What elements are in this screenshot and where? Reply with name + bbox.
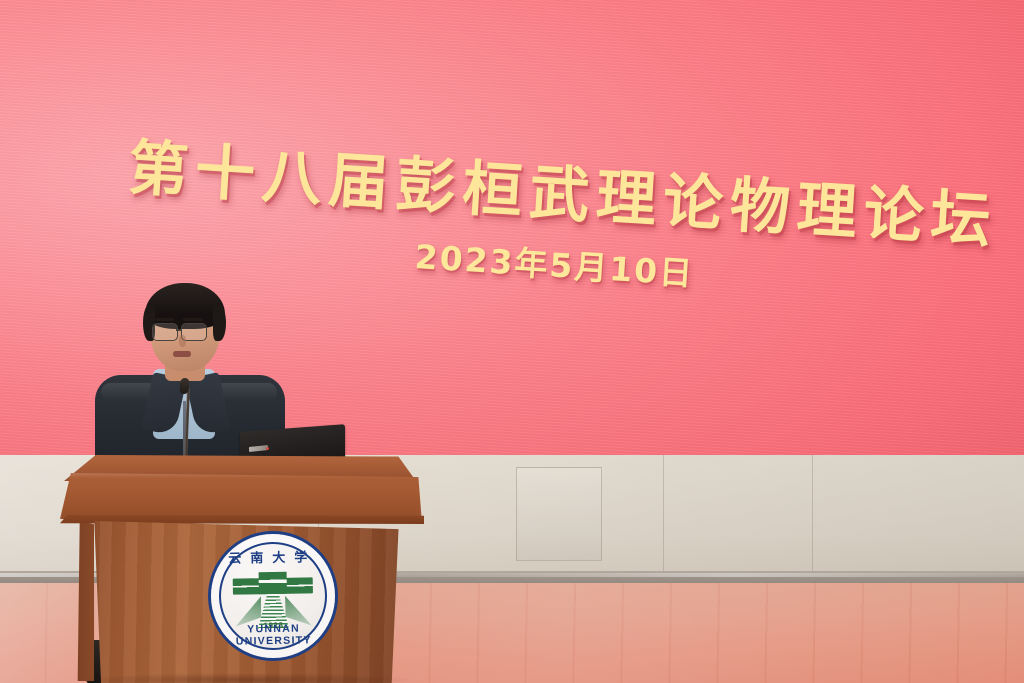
wall-access-panel: [516, 467, 602, 561]
speaker-hair-right: [213, 305, 226, 341]
eyebrow-right: [183, 318, 203, 321]
emblem-english-name: YUNNAN UNIVERSITY: [211, 622, 335, 648]
eyeglasses-bridge: [176, 329, 182, 331]
thinkpad-logo-dot: [266, 447, 269, 450]
emblem-building-center: [259, 572, 287, 594]
eyeglasses-left-lens: [152, 323, 178, 341]
lectern-left-side: [60, 521, 94, 681]
yunnan-university-emblem: 云南大学 1923 YUNNAN UNIVERSITY: [210, 533, 336, 659]
eyebrow-left: [154, 318, 174, 321]
banner-title: 第十八届彭桓武理论物理论坛: [108, 118, 1001, 260]
conference-photo-scene: 第十八届彭桓武理论物理论坛 2023年5月10日: [0, 0, 1024, 683]
banner-date: 2023年5月10日: [404, 229, 696, 295]
wall-panel-seam: [663, 455, 664, 583]
nose: [179, 335, 186, 347]
lectern-floor-shadow: [80, 673, 410, 683]
mouth: [173, 351, 191, 357]
emblem-chinese-name: 云南大学: [210, 546, 334, 567]
wall-panel-seam: [812, 455, 813, 581]
